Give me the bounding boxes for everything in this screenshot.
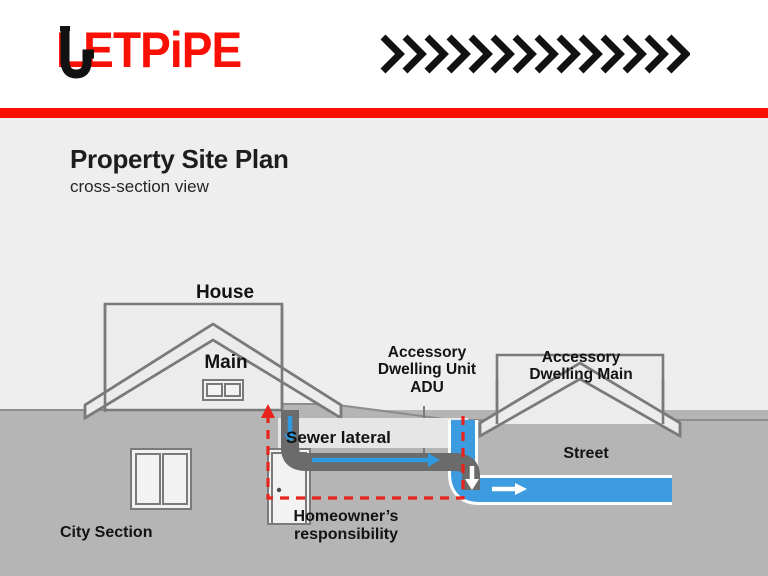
label-house: House [165, 282, 285, 303]
site-plan-slide: LETPiPE [0, 0, 768, 576]
label-main: Main [166, 352, 286, 373]
label-street: Street [516, 445, 656, 463]
window-icon [203, 380, 243, 400]
label-adu-main: Accessory Dwelling Main [506, 349, 656, 384]
diagram-title-block: Property Site Plan cross-section view [70, 144, 289, 198]
brand-rule-divider [0, 108, 768, 118]
label-adu: Accessory Dwelling Unit ADU [352, 344, 502, 396]
page-subtitle: cross-section view [70, 176, 289, 198]
letpipe-logo: LETPiPE [56, 22, 216, 84]
header-bar: LETPiPE [0, 0, 768, 108]
page-title: Property Site Plan [70, 144, 289, 174]
p-trap-pipe-icon [56, 24, 96, 82]
label-homeowner-responsibility: Homeowner’s responsibility [246, 508, 446, 544]
label-sewer-lateral: Sewer lateral [286, 428, 466, 447]
label-city-section: City Section [60, 524, 220, 542]
window-icon [131, 449, 191, 509]
property-site-plan-diagram: Property Site Plan cross-section view [0, 118, 768, 576]
chevron-arrow-strip [378, 28, 690, 80]
